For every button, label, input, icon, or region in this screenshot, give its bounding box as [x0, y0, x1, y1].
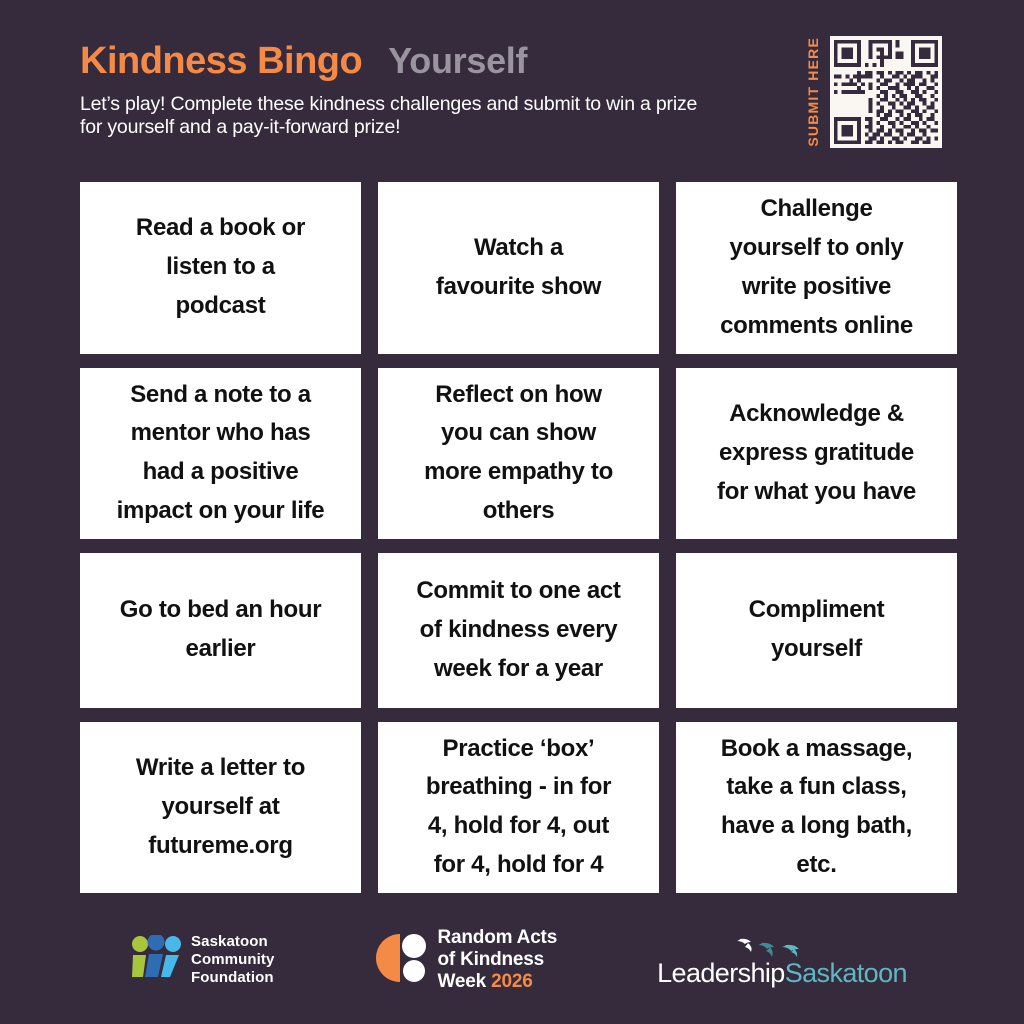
rak-mark-icon — [375, 931, 429, 990]
bingo-cell[interactable]: Send a note to a mentor who has had a po… — [80, 368, 361, 540]
kindness-bingo-poster: Kindness Bingo Yourself Let’s play! Comp… — [0, 0, 1024, 1024]
bingo-cell[interactable]: Book a massage, take a fun class, have a… — [676, 722, 957, 894]
submit-here-label: SUBMIT HERE — [806, 37, 820, 147]
leadership-saskatoon-wordmark: LeadershipSaskatoon — [657, 960, 907, 987]
rak-wordmark: Random Acts of Kindness Week 2026 — [438, 927, 558, 994]
random-acts-of-kindness-logo: Random Acts of Kindness Week 2026 — [375, 927, 558, 994]
bingo-cell[interactable]: Watch a favourite show — [378, 182, 659, 354]
bingo-cell[interactable]: Write a letter to yourself at futureme.o… — [80, 722, 361, 894]
footer-logos: Saskatoon Community Foundation Random Ac… — [80, 910, 957, 1010]
bingo-cell[interactable]: Read a book or listen to a podcast — [80, 182, 361, 354]
saskatoon-community-foundation-logo: Saskatoon Community Foundation — [130, 933, 274, 988]
bingo-cell-text: Read a book or listen to a podcast — [136, 209, 305, 326]
bingo-cell-text: Challenge yourself to only write positiv… — [720, 190, 913, 346]
header: Kindness Bingo Yourself Let’s play! Comp… — [80, 40, 780, 138]
bingo-cell-text: Write a letter to yourself at futureme.o… — [136, 749, 305, 866]
bingo-cell-text: Book a massage, take a fun class, have a… — [721, 730, 913, 886]
intro-text: Let’s play! Complete these kindness chal… — [80, 93, 705, 138]
title-row: Kindness Bingo Yourself — [80, 40, 780, 83]
bingo-cell[interactable]: Challenge yourself to only write positiv… — [676, 182, 957, 354]
bingo-grid: Read a book or listen to a podcast Watch… — [80, 182, 957, 893]
bingo-cell-text: Practice ‘box’ breathing - in for 4, hol… — [426, 730, 611, 886]
flying-birds-icon — [682, 934, 882, 960]
qr-code-icon[interactable] — [830, 36, 942, 148]
scf-people-icon — [130, 935, 182, 984]
bingo-cell-text: Commit to one act of kindness every week… — [416, 572, 620, 689]
bingo-cell-text: Watch a favourite show — [436, 229, 601, 307]
bingo-cell-text: Reflect on how you can show more empathy… — [424, 376, 613, 532]
bingo-cell-text: Compliment yourself — [749, 591, 885, 669]
bingo-cell-text: Send a note to a mentor who has had a po… — [117, 376, 325, 532]
page-subtitle-category: Yourself — [388, 40, 527, 82]
bingo-cell-text: Acknowledge & express gratitude for what… — [717, 395, 916, 512]
bingo-cell[interactable]: Reflect on how you can show more empathy… — [378, 368, 659, 540]
page-title: Kindness Bingo — [80, 40, 362, 83]
bingo-cell[interactable]: Acknowledge & express gratitude for what… — [676, 368, 957, 540]
scf-wordmark: Saskatoon Community Foundation — [191, 933, 274, 988]
bingo-cell[interactable]: Practice ‘box’ breathing - in for 4, hol… — [378, 722, 659, 894]
bingo-cell[interactable]: Commit to one act of kindness every week… — [378, 553, 659, 708]
bingo-cell[interactable]: Go to bed an hour earlier — [80, 553, 361, 708]
bingo-cell[interactable]: Compliment yourself — [676, 553, 957, 708]
leadership-saskatoon-logo: LeadershipSaskatoon — [657, 934, 907, 987]
bingo-cell-text: Go to bed an hour earlier — [120, 591, 322, 669]
submit-qr-block[interactable]: SUBMIT HERE — [806, 36, 942, 148]
